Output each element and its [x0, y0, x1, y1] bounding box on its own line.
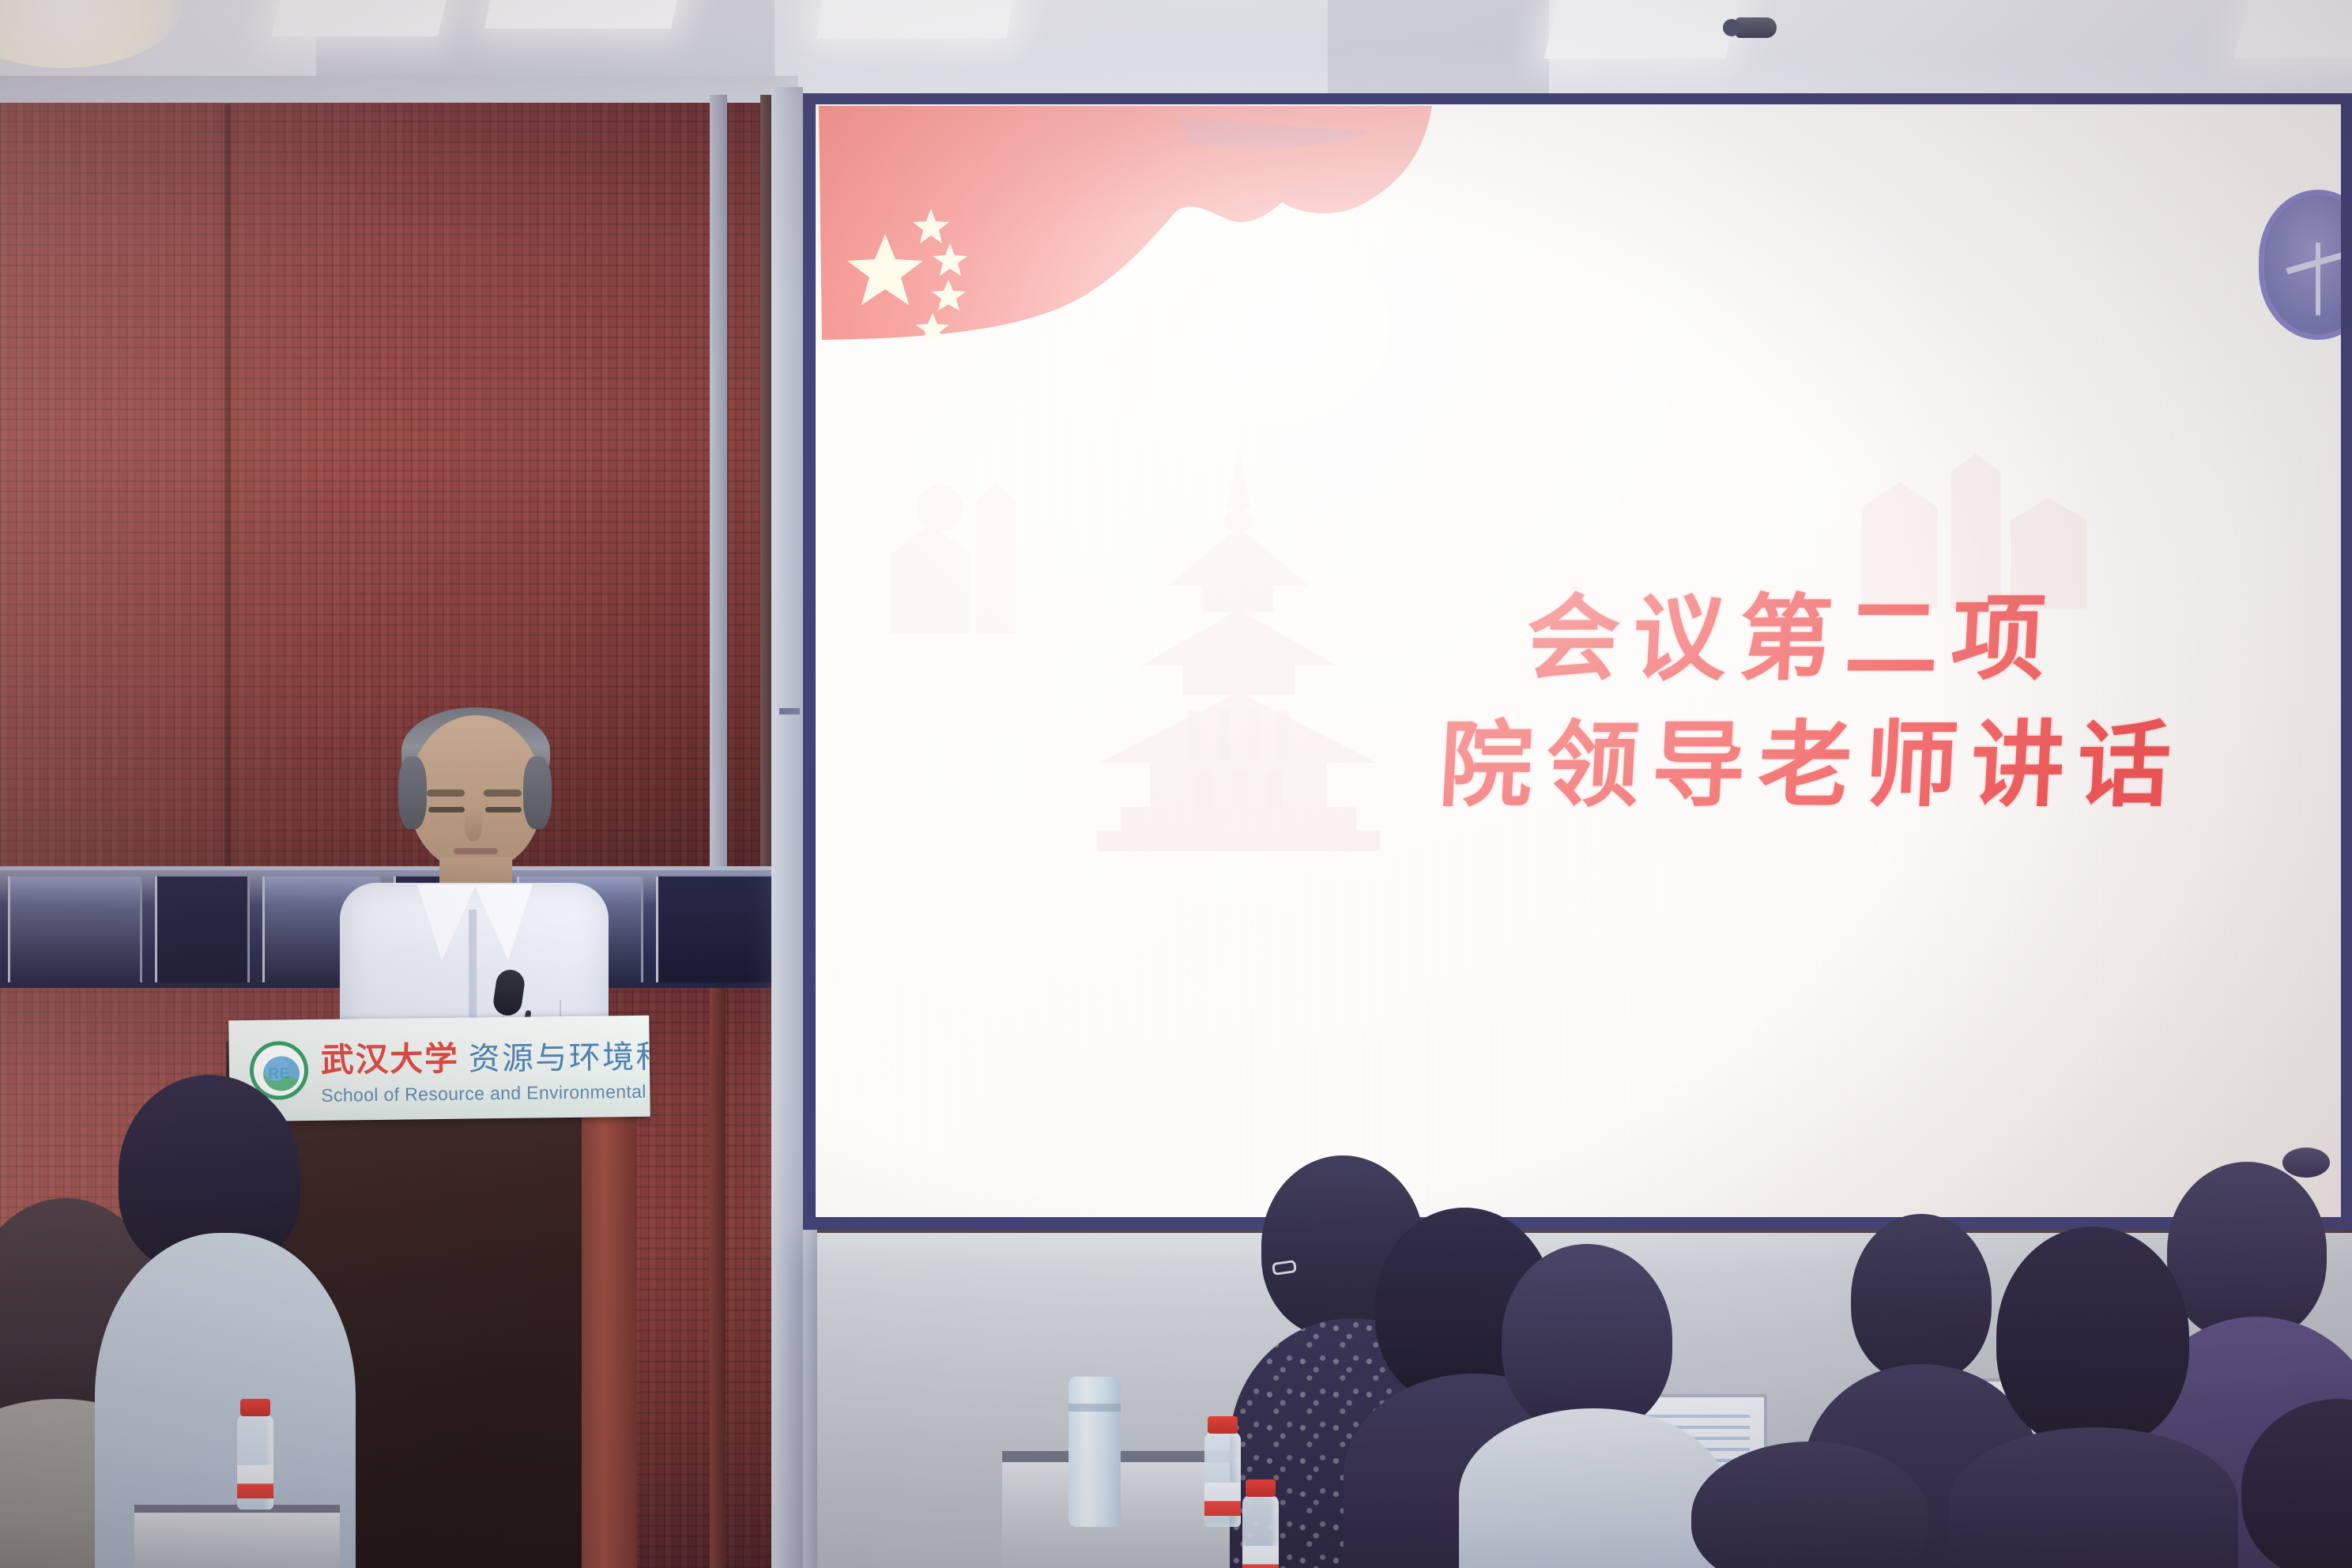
- speaker-mouth: [454, 848, 498, 854]
- sign-title-row: 武汉大学 资源与环境科学学院: [320, 1027, 650, 1082]
- thermos-flask: [1069, 1377, 1121, 1527]
- ceiling-light-panel-1: [271, 0, 450, 36]
- ceiling-projector-icon: [1736, 17, 1777, 38]
- window-pane: [155, 876, 250, 982]
- ceiling-light-panel-3: [1543, 0, 1746, 58]
- wall-column-strip: [771, 87, 803, 1568]
- bottle-cap: [1246, 1479, 1276, 1497]
- water-bottle: [1204, 1432, 1241, 1527]
- slide-headline-line-2: 院领导老师讲话: [1437, 689, 2188, 824]
- bottle-label: [1242, 1546, 1279, 1568]
- speaker-nose: [465, 810, 482, 842]
- attendee-center-3-jacket: [1459, 1408, 1728, 1568]
- audience-group-center-3: [1459, 1244, 1728, 1568]
- audience-group-right-5: [1691, 1442, 1952, 1568]
- attendee-right-5-hair: [1691, 1442, 1928, 1568]
- bottle-label: [1204, 1483, 1241, 1516]
- wall-seam-1: [224, 104, 231, 893]
- window-pane: [8, 876, 142, 982]
- speaker-hair-side-right: [523, 756, 552, 829]
- wall-trim-post-3: [710, 988, 726, 1568]
- slide-surface: 会议第二项 院领导老师讲话: [816, 104, 2341, 1217]
- ceiling-light-panel-5: [817, 0, 1016, 38]
- bottle-cap: [1208, 1416, 1238, 1434]
- speaker-brow-right: [484, 790, 522, 797]
- slide-headline-group: 会议第二项 院领导老师讲话: [816, 104, 2341, 1217]
- water-bottle: [237, 1415, 273, 1510]
- speaker-hair-side-left: [398, 756, 427, 829]
- audience-group-right-4: [2241, 1399, 2352, 1568]
- projection-screen: 会议第二项 院领导老师讲话: [803, 93, 2352, 1230]
- sign-school-name-cn: 资源与环境科学学院: [468, 1030, 650, 1080]
- speaker-eye-left: [428, 807, 465, 812]
- attendee-right-3-hair: [1996, 1227, 2189, 1448]
- speaker-brow-left: [427, 790, 465, 797]
- slide-headline-line-1: 会议第二项: [1524, 563, 2063, 698]
- bottle-label: [237, 1465, 273, 1498]
- conference-photo-scene: 会议第二项 院领导老师讲话 RE: [0, 0, 2352, 1568]
- ceiling-light-panel-4: [2234, 0, 2352, 58]
- audience-group-right-3: [1962, 1227, 2222, 1568]
- speaker-eye-right: [485, 807, 522, 812]
- window-pane: [656, 876, 790, 982]
- attendee-right-4-hair: [2241, 1399, 2352, 1568]
- wall-trim-post-2: [760, 95, 771, 893]
- attendee-center-3-hair: [1502, 1244, 1672, 1434]
- thermos-ring: [1069, 1404, 1121, 1412]
- podium-side-panel: [582, 1089, 637, 1568]
- attendee-right-2-ponytail: [2282, 1148, 2330, 1178]
- desk-surface-left: [134, 1508, 340, 1568]
- water-bottle: [1242, 1495, 1279, 1568]
- wall-trim-post-1: [710, 95, 727, 893]
- ceiling-light-panel-2: [484, 0, 682, 28]
- attendee-right-3-top: [1949, 1427, 2238, 1568]
- wall-column-joint: [779, 708, 800, 714]
- bottle-cap: [240, 1399, 270, 1416]
